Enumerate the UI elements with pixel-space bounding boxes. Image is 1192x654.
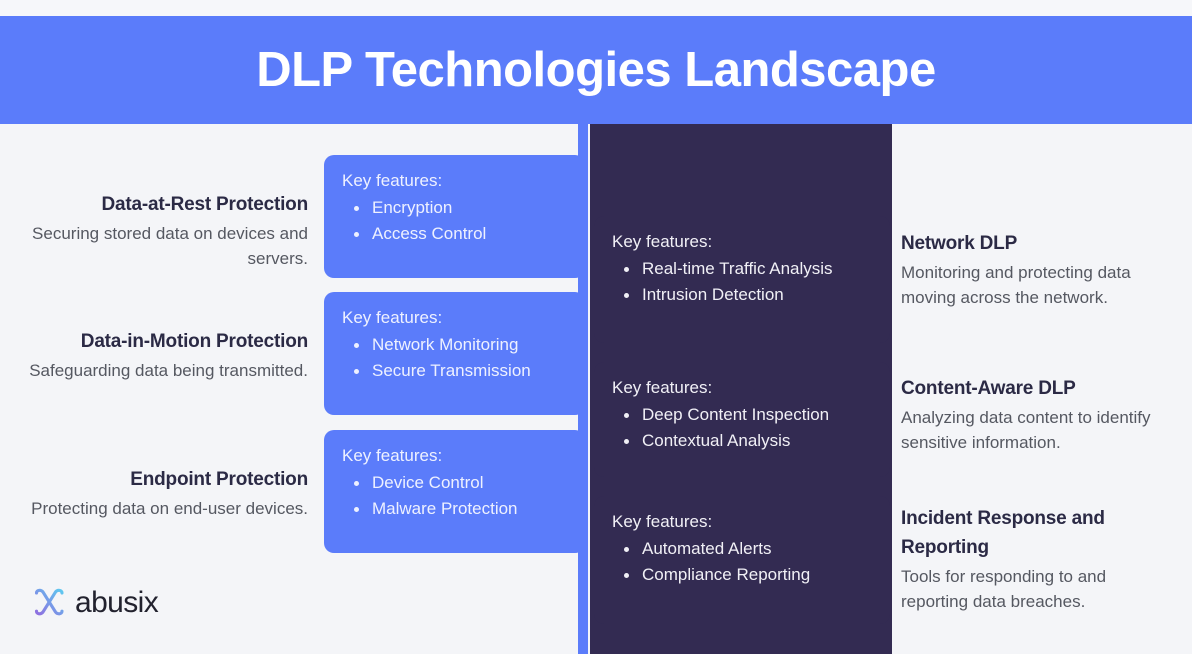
left-item-3-heading: Endpoint Protection (0, 468, 308, 492)
abusix-wordmark: abusix (75, 588, 158, 618)
right-item-1-text: Network DLP Monitoring and protecting da… (901, 229, 1186, 310)
list-item: Intrusion Detection (612, 282, 874, 308)
infographic-page: DLP Technologies Landscape Data-at-Rest … (0, 0, 1192, 654)
left-item-3-features-label: Key features: (342, 444, 569, 468)
right-item-2-text: Content-Aware DLP Analyzing data content… (901, 374, 1186, 455)
left-item-1-features-list: Encryption Access Control (342, 195, 569, 247)
right-item-1-heading: Network DLP (901, 229, 1186, 258)
left-item-2-description: Safeguarding data being transmitted. (0, 358, 308, 383)
right-item-3-features-card: Key features: Automated Alerts Complianc… (594, 496, 890, 624)
right-item-2-features-card: Key features: Deep Content Inspection Co… (594, 362, 890, 477)
list-item: Secure Transmission (342, 358, 569, 384)
right-item-3-description: Tools for responding to and reporting da… (901, 564, 1131, 614)
right-item-3-features-label: Key features: (612, 510, 874, 534)
left-item-2-features-list: Network Monitoring Secure Transmission (342, 332, 569, 384)
right-item-1-description: Monitoring and protecting data moving ac… (901, 260, 1186, 310)
abusix-x-mark-icon (32, 588, 66, 618)
left-item-2-text: Data-in-Motion Protection Safeguarding d… (0, 330, 308, 383)
list-item: Device Control (342, 470, 569, 496)
left-item-1-text: Data-at-Rest Protection Securing stored … (0, 193, 308, 271)
left-item-2-features-card: Key features: Network Monitoring Secure … (324, 292, 585, 415)
right-item-3-text: Incident Response and Reporting Tools fo… (901, 504, 1131, 614)
left-item-1-features-card: Key features: Encryption Access Control (324, 155, 585, 278)
right-item-1-features-label: Key features: (612, 230, 874, 254)
right-item-2-features-list: Deep Content Inspection Contextual Analy… (612, 402, 874, 454)
left-item-2-heading: Data-in-Motion Protection (0, 330, 308, 354)
left-item-1-heading: Data-at-Rest Protection (0, 193, 308, 217)
left-item-2-features-label: Key features: (342, 306, 569, 330)
page-title: DLP Technologies Landscape (256, 42, 936, 98)
right-item-2-description: Analyzing data content to identify sensi… (901, 405, 1186, 455)
list-item: Malware Protection (342, 496, 569, 522)
left-item-3-features-card: Key features: Device Control Malware Pro… (324, 430, 585, 553)
left-item-3-features-list: Device Control Malware Protection (342, 470, 569, 522)
right-item-1-features-list: Real-time Traffic Analysis Intrusion Det… (612, 256, 874, 308)
top-margin-strip (0, 0, 1192, 16)
list-item: Automated Alerts (612, 536, 874, 562)
list-item: Encryption (342, 195, 569, 221)
right-item-3-features-list: Automated Alerts Compliance Reporting (612, 536, 874, 588)
right-item-3-heading: Incident Response and Reporting (901, 504, 1131, 562)
list-item: Access Control (342, 221, 569, 247)
list-item: Compliance Reporting (612, 562, 874, 588)
list-item: Contextual Analysis (612, 428, 874, 454)
list-item: Deep Content Inspection (612, 402, 874, 428)
list-item: Real-time Traffic Analysis (612, 256, 874, 282)
right-item-1-features-card: Key features: Real-time Traffic Analysis… (594, 216, 890, 343)
right-item-2-heading: Content-Aware DLP (901, 374, 1186, 403)
body-area: Data-at-Rest Protection Securing stored … (0, 124, 1192, 654)
left-item-1-features-label: Key features: (342, 169, 569, 193)
left-item-3-text: Endpoint Protection Protecting data on e… (0, 468, 308, 521)
left-item-1-description: Securing stored data on devices and serv… (0, 221, 308, 271)
abusix-logo: abusix (32, 588, 158, 618)
left-item-3-description: Protecting data on end-user devices. (0, 496, 308, 521)
header-banner: DLP Technologies Landscape (0, 16, 1192, 124)
right-item-2-features-label: Key features: (612, 376, 874, 400)
list-item: Network Monitoring (342, 332, 569, 358)
